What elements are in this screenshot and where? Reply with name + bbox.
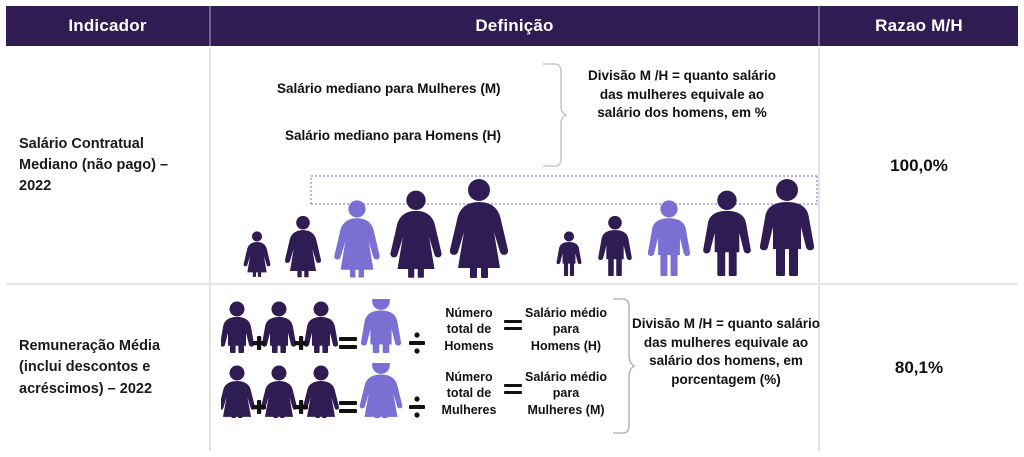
cell-indicator: Salário Contratual Mediano (não pago) – … [6, 48, 211, 283]
definition-explanation: Divisão M /H = quanto salário das mulher… [631, 315, 821, 390]
definition-explanation: Divisão M /H = quanto salário das mulher… [577, 67, 787, 123]
indicators-table: Indicador Definição Razao M/H Salário Co… [0, 0, 1024, 457]
equation-women-pictogram [221, 363, 446, 421]
cell-definition: Número total de Homens Salário médio par… [211, 285, 820, 451]
column-header-indicator: Indicador [6, 6, 211, 46]
table-row: Remuneração Média (inclui descontos e ac… [6, 285, 1018, 451]
ratio-value: 100,0% [890, 156, 948, 176]
column-header-ratio: Razao M/H [820, 6, 1018, 46]
equation-men-pictogram [221, 299, 446, 357]
table-header-row: Indicador Definição Razao M/H [6, 6, 1018, 46]
curly-brace-icon [541, 62, 567, 168]
cell-ratio: 100,0% [820, 48, 1018, 283]
label-median-salary-women: Salário mediano para Mulheres (M) [277, 80, 501, 98]
label-median-salary-men: Salário mediano para Homens (H) [285, 127, 501, 145]
pictogram-people-row [221, 168, 821, 278]
ratio-value: 80,1% [895, 358, 943, 378]
label-average-salary-women: Salário médio para Mulheres (M) [516, 369, 616, 418]
cell-indicator: Remuneração Média (inclui descontos e ac… [6, 285, 211, 451]
label-total-men: Número total de Homens [429, 305, 509, 354]
label-total-women: Número total de Mulheres [429, 369, 509, 418]
indicator-label: Remuneração Média (inclui descontos e ac… [6, 336, 209, 399]
cell-definition: Salário mediano para Mulheres (M) Salári… [211, 48, 820, 283]
indicator-label: Salário Contratual Mediano (não pago) – … [6, 134, 209, 197]
table-row: Salário Contratual Mediano (não pago) – … [6, 48, 1018, 285]
column-header-definition: Definição [211, 6, 820, 46]
cell-ratio: 80,1% [820, 285, 1018, 451]
label-average-salary-men: Salário médio para Homens (H) [516, 305, 616, 354]
